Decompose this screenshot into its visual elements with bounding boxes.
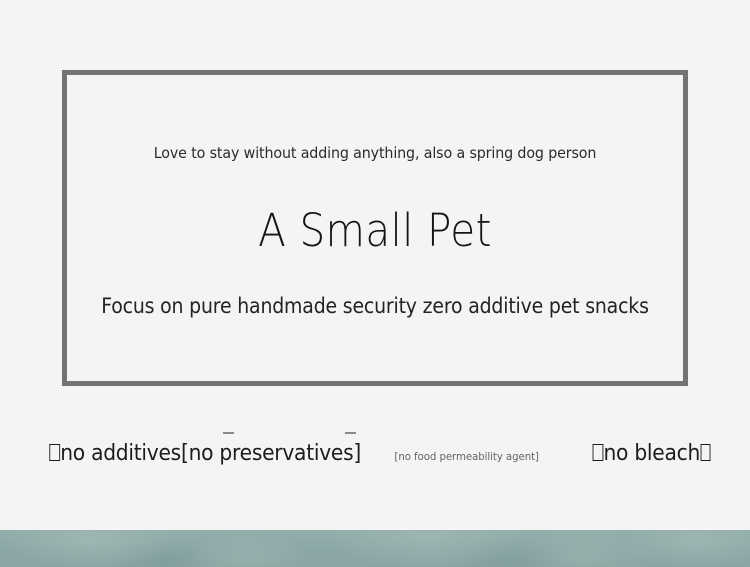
claim-permeability-note: [no food permeability agent] <box>394 440 538 474</box>
claim-additives-label: no additives[no preservatives] <box>61 440 362 466</box>
claim-bleach-label: no bleach <box>604 440 701 466</box>
hero-content: Love to stay without adding anything, al… <box>67 75 683 381</box>
tofu-box-open-icon <box>593 444 604 461</box>
page-title: A Small Pet <box>98 208 652 253</box>
claim-bleach: no bleach <box>593 436 711 470</box>
hero-subtitle: Focus on pure handmade security zero add… <box>98 296 652 317</box>
tofu-box-close-icon <box>700 444 711 461</box>
claims-row: no additives[no preservatives] [no food … <box>0 436 750 470</box>
claim-additives: no additives[no preservatives] <box>50 436 362 470</box>
glyph-stroke-mark <box>223 432 234 434</box>
hero-frame: Love to stay without adding anything, al… <box>62 70 688 386</box>
footer-band <box>0 530 750 567</box>
page-root: Love to stay without adding anything, al… <box>0 0 750 567</box>
hero-tagline: Love to stay without adding anything, al… <box>92 146 659 162</box>
tofu-box-icon <box>50 444 61 461</box>
glyph-stroke-mark <box>345 432 356 434</box>
